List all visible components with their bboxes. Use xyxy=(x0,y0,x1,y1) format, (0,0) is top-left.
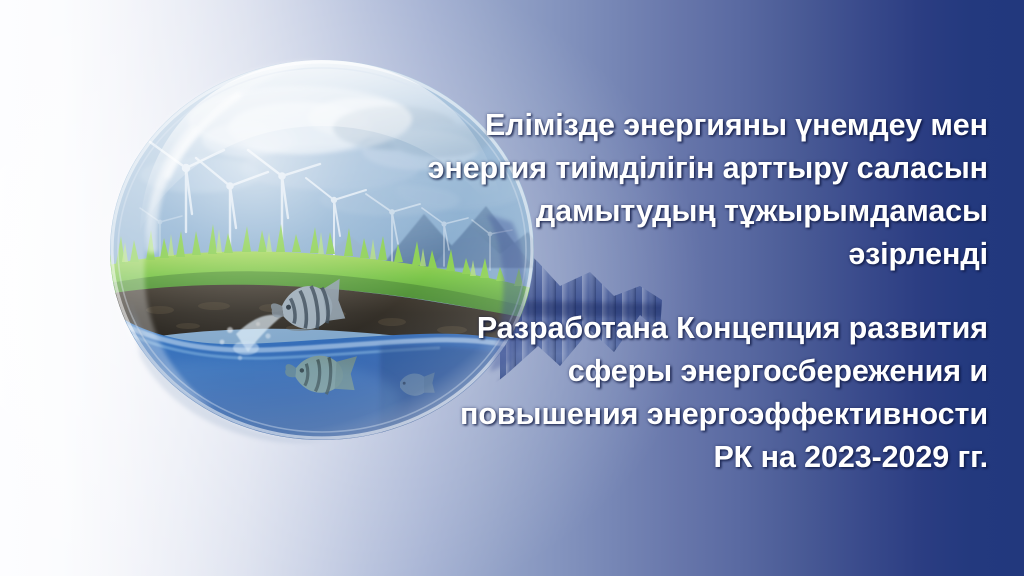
banner-root: Елімізде энергияны үнемдеу мен энергия т… xyxy=(0,0,1024,576)
headline-ru-line-3: повышения энергоэффективности xyxy=(460,393,988,436)
headline-kk-line-3: дамытудың тұжырымдамасы xyxy=(428,190,988,233)
headline-ru-line-4: РК на 2023-2029 гг. xyxy=(460,436,988,479)
headline-ru-line-1: Разработана Концепция развития xyxy=(460,307,988,350)
headline-kk-line-1: Елімізде энергияны үнемдеу мен xyxy=(428,104,988,147)
headline-kazakh: Елімізде энергияны үнемдеу мен энергия т… xyxy=(428,104,988,276)
headline-kk-line-2: энергия тиімділігін арттыру саласын xyxy=(428,147,988,190)
headline-russian: Разработана Концепция развития сферы эне… xyxy=(460,307,988,479)
headline-ru-line-2: сферы энергосбережения и xyxy=(460,350,988,393)
headline-kk-line-4: әзірленді xyxy=(428,233,988,276)
text-layer: Елімізде энергияны үнемдеу мен энергия т… xyxy=(0,0,1024,576)
